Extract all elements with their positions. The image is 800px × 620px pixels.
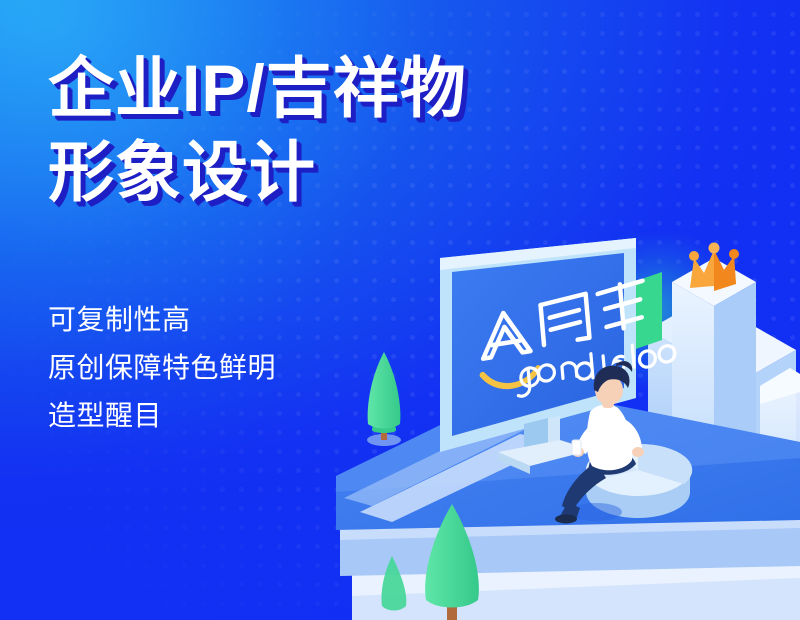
poster-canvas: 企业IP/吉祥物 形象设计 可复制性高 原创保障特色鲜明 造型醒目	[0, 0, 800, 620]
headline-line-1: 企业IP/吉祥物	[48, 46, 648, 130]
subtitle-line-2: 原创保障特色鲜明	[48, 344, 276, 392]
headline-line-2: 形象设计	[48, 130, 648, 214]
subtitle-line-3: 造型醒目	[48, 392, 276, 440]
subtitle-block: 可复制性高 原创保障特色鲜明 造型醒目	[48, 296, 276, 440]
tree-small	[367, 352, 401, 446]
crown-icon	[689, 243, 739, 292]
page-title: 企业IP/吉祥物 形象设计	[48, 46, 648, 214]
subtitle-line-1: 可复制性高	[48, 296, 276, 344]
